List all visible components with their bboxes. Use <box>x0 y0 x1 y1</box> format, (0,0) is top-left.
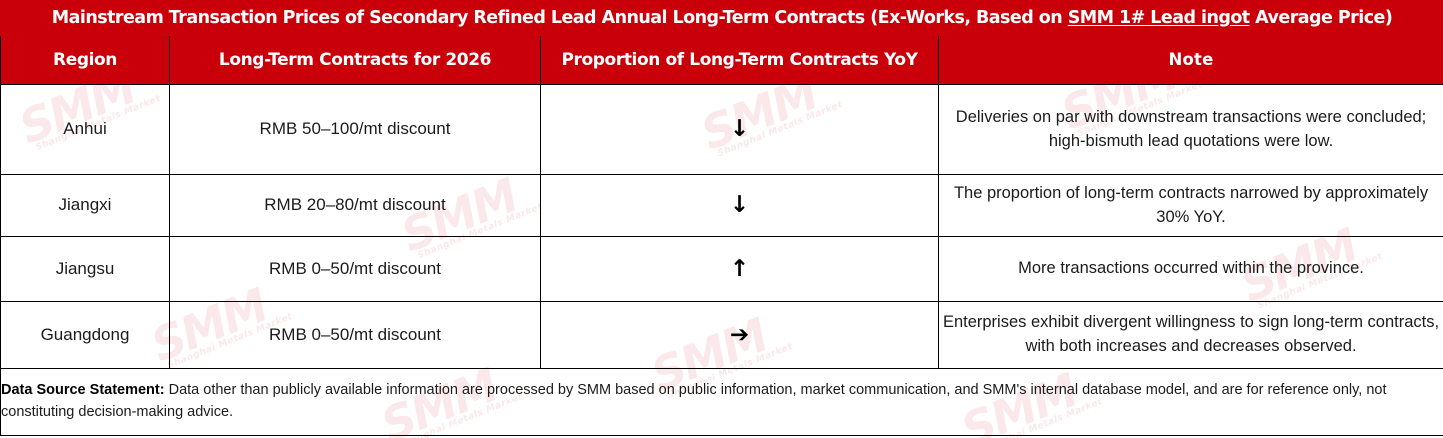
footer-row: Data Source Statement: Data other than p… <box>1 369 1443 436</box>
cell-contract: RMB 0–50/mt discount <box>170 237 541 302</box>
cell-note: Deliveries on par with downstream transa… <box>939 85 1443 175</box>
column-header-note: Note <box>939 36 1443 85</box>
footer-label: Data Source Statement: <box>1 382 165 398</box>
table-header-row: Region Long-Term Contracts for 2026 Prop… <box>1 36 1443 85</box>
cell-region: Jiangxi <box>1 175 170 237</box>
column-header-yoy: Proportion of Long-Term Contracts YoY <box>541 36 939 85</box>
column-header-contract: Long-Term Contracts for 2026 <box>170 36 541 85</box>
column-header-region: Region <box>1 36 170 85</box>
cell-contract: RMB 0–50/mt discount <box>170 302 541 369</box>
cell-note: More transactions occurred within the pr… <box>939 237 1443 302</box>
table-row: Guangdong RMB 0–50/mt discount ➔ Enterpr… <box>1 302 1443 369</box>
cell-contract: RMB 20–80/mt discount <box>170 175 541 237</box>
price-table: Mainstream Transaction Prices of Seconda… <box>0 0 1443 436</box>
title-prefix: Mainstream Transaction Prices of Seconda… <box>52 8 1068 28</box>
arrow-right-icon: ➔ <box>541 302 939 369</box>
cell-region: Guangdong <box>1 302 170 369</box>
table-page: SMMShanghai Metals Market SMMShanghai Me… <box>0 0 1443 438</box>
cell-region: Jiangsu <box>1 237 170 302</box>
table-row: Jiangsu RMB 0–50/mt discount ↑ More tran… <box>1 237 1443 302</box>
table-row: Anhui RMB 50–100/mt discount ↓ Deliverie… <box>1 85 1443 175</box>
column-header-note-label: Note <box>1169 50 1214 69</box>
arrow-up-icon: ↑ <box>541 237 939 302</box>
arrow-down-icon: ↓ <box>541 85 939 175</box>
page-title: Mainstream Transaction Prices of Seconda… <box>52 8 1393 28</box>
table-row: Jiangxi RMB 20–80/mt discount ↓ The prop… <box>1 175 1443 237</box>
arrow-down-icon: ↓ <box>541 175 939 237</box>
table-title-cell: Mainstream Transaction Prices of Seconda… <box>1 1 1443 36</box>
cell-contract: RMB 50–100/mt discount <box>170 85 541 175</box>
column-header-yoy-label: Proportion of Long-Term Contracts YoY <box>561 50 917 70</box>
footer-text: Data Source Statement: Data other than p… <box>1 382 1387 420</box>
cell-note: The proportion of long-term contracts na… <box>939 175 1443 237</box>
title-underlined-term: SMM 1# Lead ingot <box>1068 8 1250 28</box>
data-source-statement: Data Source Statement: Data other than p… <box>1 369 1443 436</box>
column-header-contract-label: Long-Term Contracts for 2026 <box>219 50 491 70</box>
table-title-row: Mainstream Transaction Prices of Seconda… <box>1 1 1443 36</box>
column-header-region-label: Region <box>53 50 117 70</box>
footer-body: Data other than publicly available infor… <box>1 382 1387 420</box>
title-suffix: Average Price) <box>1250 8 1393 28</box>
cell-note: Enterprises exhibit divergent willingnes… <box>939 302 1443 369</box>
cell-region: Anhui <box>1 85 170 175</box>
